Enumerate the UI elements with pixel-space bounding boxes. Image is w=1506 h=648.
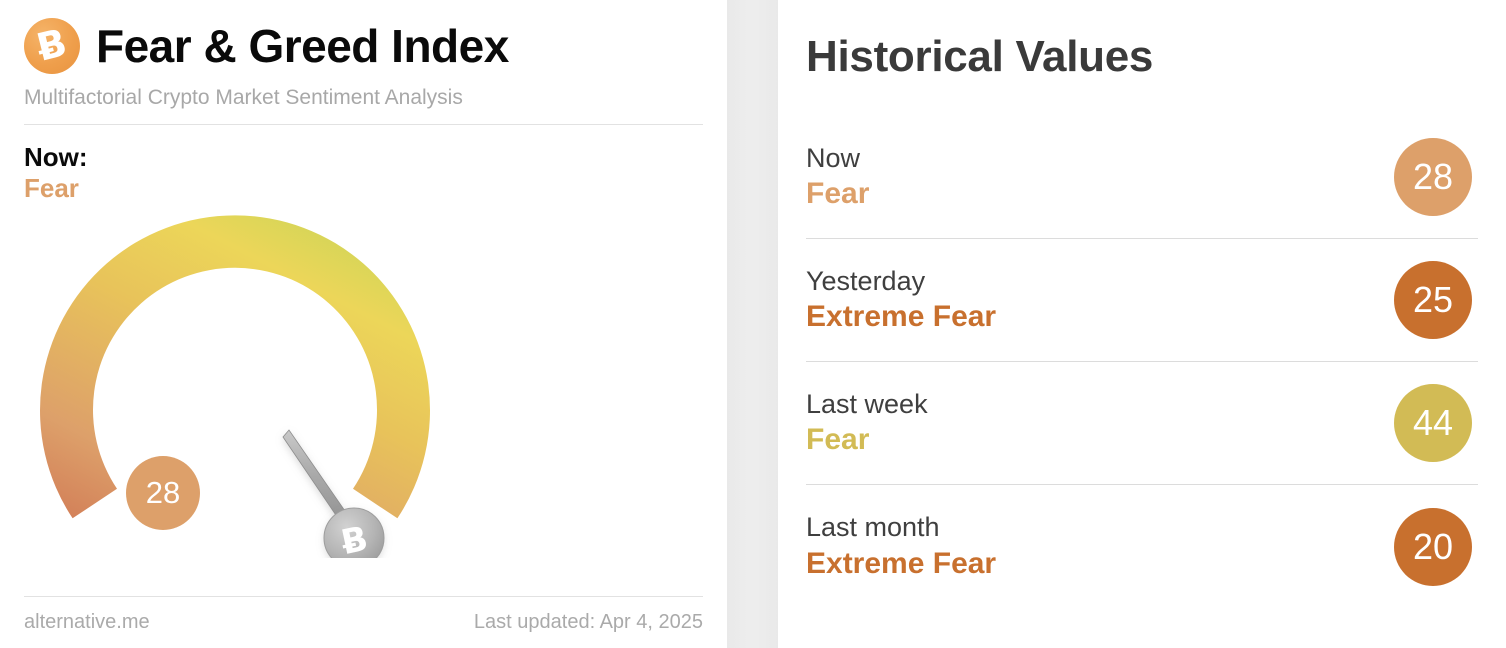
gauge-svg: Ƀ — [24, 208, 703, 558]
now-classification: Fear — [24, 173, 703, 204]
panel-footer: alternative.me Last updated: Apr 4, 2025 — [24, 596, 703, 634]
now-label: Now: — [24, 143, 703, 173]
historical-row: YesterdayExtreme Fear25 — [806, 239, 1478, 362]
historical-row: NowFear28 — [806, 116, 1478, 239]
page-subtitle: Multifactorial Crypto Market Sentiment A… — [24, 86, 703, 110]
historical-row: Last monthExtreme Fear20 — [806, 485, 1478, 608]
historical-row-texts: YesterdayExtreme Fear — [806, 267, 996, 334]
header-divider — [24, 124, 703, 125]
historical-row-texts: Last weekFear — [806, 390, 928, 457]
last-updated: Last updated: Apr 4, 2025 — [474, 611, 703, 634]
historical-period: Now — [806, 144, 869, 174]
historical-classification: Fear — [806, 177, 869, 210]
historical-value-badge: 28 — [1394, 138, 1472, 216]
source-link[interactable]: alternative.me — [24, 611, 150, 634]
panel-header: Ƀ Fear & Greed Index — [24, 0, 703, 74]
historical-row: Last weekFear44 — [806, 362, 1478, 485]
gauge-arc — [24, 208, 703, 558]
index-panel: Ƀ Fear & Greed Index Multifactorial Cryp… — [0, 0, 727, 648]
historical-period: Yesterday — [806, 267, 996, 297]
fear-greed-widget: Ƀ Fear & Greed Index Multifactorial Cryp… — [0, 0, 1506, 648]
historical-list: NowFear28YesterdayExtreme Fear25Last wee… — [806, 116, 1478, 608]
historical-row-texts: Last monthExtreme Fear — [806, 513, 996, 580]
historical-period: Last month — [806, 513, 996, 543]
footer-divider — [24, 596, 703, 597]
bitcoin-glyph: Ƀ — [18, 12, 86, 80]
historical-classification: Extreme Fear — [806, 547, 996, 580]
gauge: Ƀ 28 — [24, 208, 703, 558]
historical-value-badge: 20 — [1394, 508, 1472, 586]
page-title: Fear & Greed Index — [96, 23, 509, 69]
historical-classification: Fear — [806, 423, 928, 456]
historical-value-badge: 44 — [1394, 384, 1472, 462]
historical-row-texts: NowFear — [806, 144, 869, 211]
panel-gap — [727, 0, 778, 648]
historical-title: Historical Values — [806, 0, 1478, 82]
historical-value-badge: 25 — [1394, 261, 1472, 339]
gauge-value-text: 28 — [146, 475, 180, 511]
historical-classification: Extreme Fear — [806, 300, 996, 333]
gauge-value-bubble: 28 — [126, 456, 200, 530]
historical-period: Last week — [806, 390, 928, 420]
historical-panel: Historical Values NowFear28YesterdayExtr… — [778, 0, 1506, 648]
bitcoin-icon: Ƀ — [24, 18, 80, 74]
